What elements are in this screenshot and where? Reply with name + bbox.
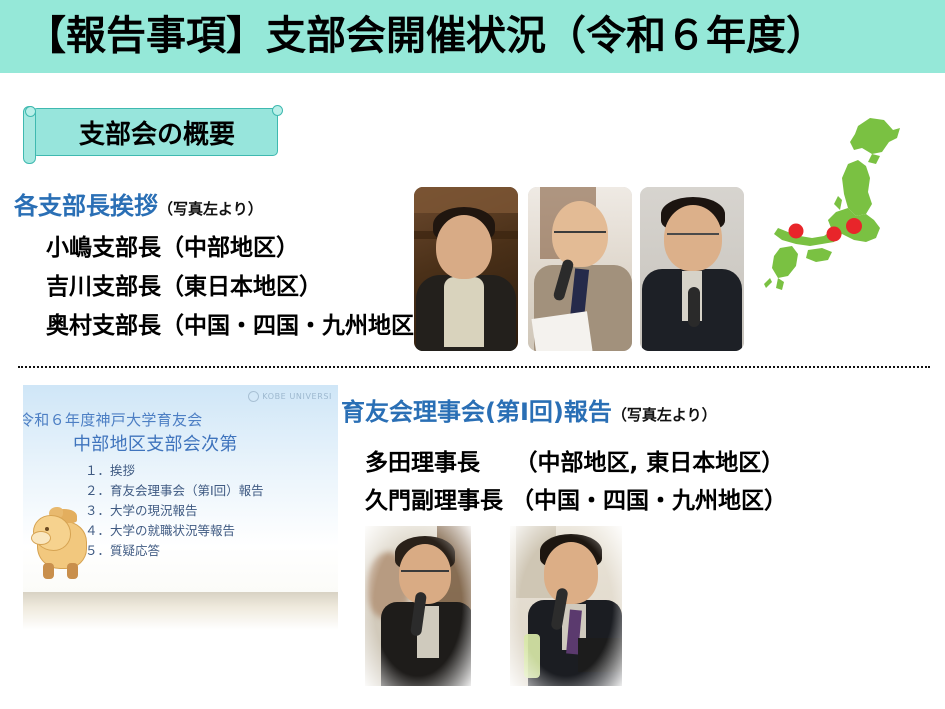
kobe-logo-text: KOBE UNIVERSI — [262, 392, 332, 401]
photo-detail — [667, 233, 719, 244]
branch-name-item: 吉川支部長（東日本地区） — [46, 267, 322, 301]
boar-eye — [45, 527, 49, 531]
agenda-item: ２．育友会理事会（第Ⅰ回）報告 — [85, 481, 335, 501]
photo-scene — [528, 187, 632, 351]
photo-scene — [414, 187, 518, 351]
branch-section-heading-text: 各支部長挨拶 — [14, 192, 158, 220]
photo-detail — [554, 231, 606, 242]
photo-scene — [640, 187, 744, 351]
boar-snout — [31, 531, 51, 545]
agenda-item: ３．大学の現況報告 — [85, 501, 335, 521]
section-divider — [18, 366, 930, 368]
kojima-branch-chief-photo — [414, 187, 518, 351]
photo-detail — [401, 570, 449, 582]
map-marker-chubu — [827, 227, 842, 242]
projection-screen: KOBE UNIVERSI 令和６年度神戸大学育友会 中部地区支部会次第 １．挨… — [23, 385, 338, 592]
branch-name-item: 小嶋支部長（中部地区） — [46, 228, 299, 262]
projection-wall — [23, 592, 338, 630]
photo-detail — [531, 311, 592, 351]
okumura-branch-chief-photo — [640, 187, 744, 351]
board-section-heading-text: 育友会理事会(第Ⅰ回)報告 — [341, 398, 612, 426]
agenda-item: ４．大学の就職状況等報告 — [85, 521, 335, 541]
branch-name-item: 奥村支部長（中国・四国・九州地区） — [46, 306, 437, 340]
board-section-heading: 育友会理事会(第Ⅰ回)報告（写真左より） — [341, 392, 717, 427]
kobe-logo-mark-icon — [248, 391, 259, 402]
board-name-item: 多田理事長 （中部地区, 東日本地区） — [365, 443, 784, 477]
board-section-heading-note: （写真左より） — [612, 406, 717, 424]
agenda-item: ５．質疑応答 — [85, 541, 335, 561]
map-marker-higashinihon — [846, 218, 862, 234]
tada-chairman-photo — [365, 526, 471, 686]
projected-slide-agenda-list: １．挨拶 ２．育友会理事会（第Ⅰ回）報告 ３．大学の現況報告 ４．大学の就職状況… — [85, 461, 335, 561]
photo-detail — [436, 215, 492, 279]
photo-detail — [688, 287, 700, 327]
board-name-item: 久門副理事長 （中国・四国・九州地区） — [365, 481, 787, 515]
banner-label: 支部会の概要 — [22, 104, 286, 160]
photo-detail — [444, 277, 484, 347]
projected-slide-title-line1: 令和６年度神戸大学育友会 — [23, 409, 203, 430]
slide-title-bar: 【報告事項】支部会開催状況（令和６年度） — [0, 0, 945, 73]
kumon-vice-chairman-photo — [510, 526, 622, 686]
boar-mascot-icon — [33, 505, 95, 585]
page-title: 【報告事項】支部会開催状況（令和６年度） — [26, 7, 826, 65]
japan-map — [762, 108, 940, 298]
section-banner: 支部会の概要 — [22, 104, 286, 160]
photo-detail — [524, 634, 540, 678]
projected-agenda-slide-photo: KOBE UNIVERSI 令和６年度神戸大学育友会 中部地区支部会次第 １．挨… — [23, 385, 338, 630]
boar-leg — [67, 563, 78, 579]
agenda-item: １．挨拶 — [85, 461, 335, 481]
photo-detail — [578, 638, 622, 672]
branch-section-heading-note: （写真左より） — [158, 200, 263, 218]
projected-slide-title-line2: 中部地区支部会次第 — [73, 430, 238, 456]
map-marker-chugoku-shikoku-kyushu — [789, 224, 804, 239]
kobe-university-logo: KOBE UNIVERSI — [248, 391, 332, 402]
yoshikawa-branch-chief-photo — [528, 187, 632, 351]
branch-section-heading: 各支部長挨拶（写真左より） — [14, 186, 263, 221]
japan-map-landmass — [764, 118, 900, 290]
photo-detail — [544, 542, 598, 604]
boar-leg — [43, 563, 54, 579]
